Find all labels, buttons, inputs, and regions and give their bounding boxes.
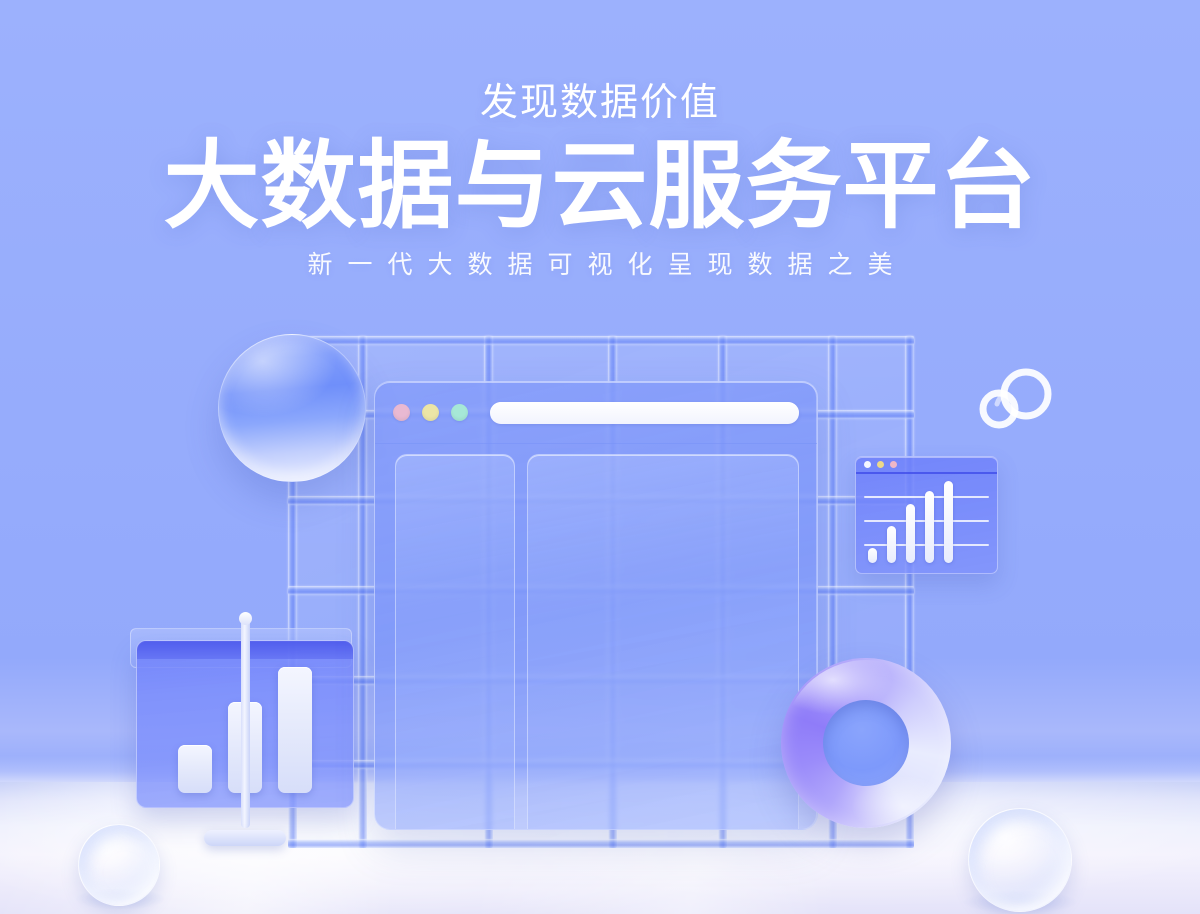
- hero-text-block: 发现数据价值 大数据与云服务平台 新一代大数据可视化呈现数据之美: [0, 84, 1200, 279]
- hero-tagline: 新一代大数据可视化呈现数据之美: [0, 252, 1200, 280]
- glass-ball-left: [78, 824, 160, 906]
- browser-content: [395, 454, 799, 829]
- widget-bar: [887, 526, 896, 563]
- donut-torus: [781, 658, 951, 828]
- cloud-icon: [975, 366, 1061, 436]
- hero-banner: 发现数据价值 大数据与云服务平台 新一代大数据可视化呈现数据之美: [0, 0, 1200, 914]
- widget-dot-white-icon[interactable]: [864, 461, 871, 468]
- maximize-dot-icon[interactable]: [451, 404, 468, 421]
- stand-knob: [239, 612, 252, 625]
- browser-titlebar: [375, 382, 817, 444]
- widget-bar: [944, 481, 953, 563]
- torus-highlight: [783, 660, 949, 826]
- browser-mockup[interactable]: [374, 381, 818, 830]
- stand-pole: [241, 616, 250, 828]
- widget-bar: [906, 504, 915, 563]
- minimize-dot-icon[interactable]: [422, 404, 439, 421]
- content-pane[interactable]: [527, 454, 799, 829]
- widget-bar: [868, 548, 877, 563]
- lattice-hline: [288, 839, 914, 848]
- widget-bar-group: [868, 481, 987, 563]
- glass-ball-right: [968, 808, 1072, 912]
- widget-dot-yellow-icon[interactable]: [877, 461, 884, 468]
- sidebar-pane[interactable]: [395, 454, 515, 829]
- board-bar: [178, 745, 212, 793]
- mini-chart-widget[interactable]: [855, 456, 998, 574]
- hero-eyebrow: 发现数据价值: [0, 84, 1200, 124]
- close-dot-icon[interactable]: [393, 404, 410, 421]
- board-bar: [278, 667, 312, 793]
- widget-titlebar: [856, 457, 997, 474]
- address-bar-input[interactable]: [490, 402, 799, 424]
- gradient-sphere: [218, 334, 366, 482]
- widget-plot-area: [856, 474, 997, 573]
- lattice-hline: [288, 336, 914, 345]
- widget-bar: [925, 491, 934, 563]
- widget-dot-pink-icon[interactable]: [890, 461, 897, 468]
- page-title: 大数据与云服务平台: [0, 138, 1200, 236]
- bar-chart-board[interactable]: [136, 640, 354, 808]
- stand-base: [204, 830, 286, 846]
